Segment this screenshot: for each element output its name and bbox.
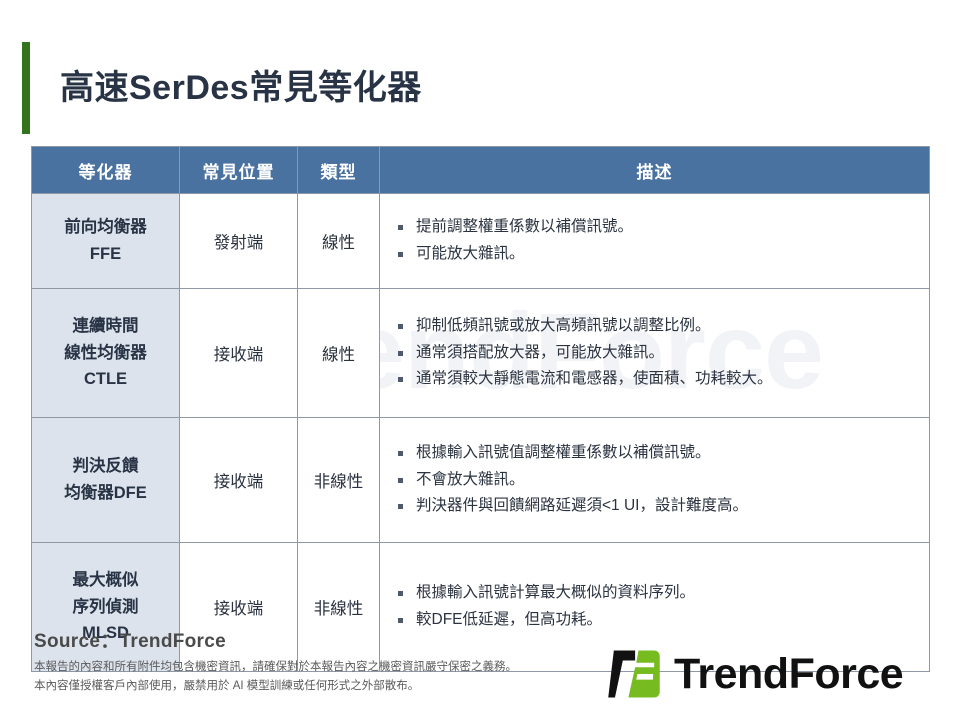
description-item: 判決器件與回饋網路延遲須<1 UI，設計難度高。 (396, 493, 919, 520)
description-list: 抑制低頻訊號或放大高頻訊號以調整比例。 通常須搭配放大器，可能放大雜訊。 通常須… (396, 313, 919, 393)
equalizer-name-line: 判決反饋 (36, 453, 175, 480)
cell-equalizer-name: 連續時間 線性均衡器 CTLE (32, 289, 180, 418)
trendforce-logo-text: TrendForce (674, 653, 903, 696)
cell-type: 線性 (298, 194, 380, 289)
column-header-description: 描述 (380, 147, 930, 194)
equalizer-name-line: 前向均衡器 (36, 214, 175, 241)
equalizer-name-line: 連續時間 (36, 313, 175, 340)
table-row: 連續時間 線性均衡器 CTLE 接收端 線性 抑制低頻訊號或放大高頻訊號以調整比… (32, 289, 930, 418)
equalizer-name-line: 線性均衡器 (36, 340, 175, 367)
description-item: 較DFE低延遲，但高功耗。 (396, 607, 919, 634)
description-item: 抑制低頻訊號或放大高頻訊號以調整比例。 (396, 313, 919, 340)
title-accent-bar (22, 42, 30, 134)
description-item: 通常須較大靜態電流和電感器，使面積、功耗較大。 (396, 366, 919, 393)
description-list: 根據輸入訊號值調整權重係數以補償訊號。 不會放大雜訊。 判決器件與回饋網路延遲須… (396, 440, 919, 520)
table-row: 前向均衡器 FFE 發射端 線性 提前調整權重係數以補償訊號。 可能放大雜訊。 (32, 194, 930, 289)
trendforce-logo: TrendForce (606, 646, 903, 702)
equalizer-table: 等化器 常見位置 類型 描述 前向均衡器 FFE 發射端 線性 提前調整權重係數… (31, 146, 930, 672)
page-title: 高速SerDes常見等化器 (60, 42, 422, 134)
cell-description: 抑制低頻訊號或放大高頻訊號以調整比例。 通常須搭配放大器，可能放大雜訊。 通常須… (380, 289, 930, 418)
cell-equalizer-name: 判決反饋 均衡器DFE (32, 418, 180, 543)
cell-type: 非線性 (298, 543, 380, 672)
description-item: 根據輸入訊號值調整權重係數以補償訊號。 (396, 440, 919, 467)
cell-equalizer-name: 前向均衡器 FFE (32, 194, 180, 289)
description-list: 根據輸入訊號計算最大概似的資料序列。 較DFE低延遲，但高功耗。 (396, 580, 919, 633)
equalizer-name-line: 最大概似 (36, 567, 175, 594)
equalizer-name-line: 序列偵測 (36, 594, 175, 621)
trendforce-logo-icon (606, 646, 662, 702)
cell-position: 接收端 (180, 289, 298, 418)
table-body: 前向均衡器 FFE 發射端 線性 提前調整權重係數以補償訊號。 可能放大雜訊。 … (32, 194, 930, 672)
title-block: 高速SerDes常見等化器 (22, 42, 422, 134)
table-header: 等化器 常見位置 類型 描述 (32, 147, 930, 194)
description-item: 根據輸入訊號計算最大概似的資料序列。 (396, 580, 919, 607)
cell-type: 非線性 (298, 418, 380, 543)
description-item: 提前調整權重係數以補償訊號。 (396, 214, 919, 241)
description-list: 提前調整權重係數以補償訊號。 可能放大雜訊。 (396, 214, 919, 267)
description-item: 通常須搭配放大器，可能放大雜訊。 (396, 340, 919, 367)
cell-description: 根據輸入訊號值調整權重係數以補償訊號。 不會放大雜訊。 判決器件與回饋網路延遲須… (380, 418, 930, 543)
equalizer-name-line: FFE (36, 241, 175, 268)
cell-position: 接收端 (180, 418, 298, 543)
table-row: 判決反饋 均衡器DFE 接收端 非線性 根據輸入訊號值調整權重係數以補償訊號。 … (32, 418, 930, 543)
column-header-type: 類型 (298, 147, 380, 194)
disclaimer-line-1: 本報告的內容和所有附件均包含機密資訊，請確保對於本報告內容之機密資訊嚴守保密之義… (34, 658, 517, 677)
column-header-equalizer: 等化器 (32, 147, 180, 194)
equalizer-table-wrapper: 等化器 常見位置 類型 描述 前向均衡器 FFE 發射端 線性 提前調整權重係數… (31, 146, 929, 672)
disclaimer-block: 本報告的內容和所有附件均包含機密資訊，請確保對於本報告內容之機密資訊嚴守保密之義… (34, 658, 517, 696)
disclaimer-line-2: 本內容僅授權客戶內部使用，嚴禁用於 AI 模型訓練或任何形式之外部散布。 (34, 677, 517, 696)
cell-position: 發射端 (180, 194, 298, 289)
description-item: 不會放大雜訊。 (396, 467, 919, 494)
cell-description: 提前調整權重係數以補償訊號。 可能放大雜訊。 (380, 194, 930, 289)
description-item: 可能放大雜訊。 (396, 241, 919, 268)
source-label: Source：TrendForce (34, 626, 226, 653)
table-header-row: 等化器 常見位置 類型 描述 (32, 147, 930, 194)
cell-type: 線性 (298, 289, 380, 418)
equalizer-name-line: CTLE (36, 366, 175, 393)
column-header-position: 常見位置 (180, 147, 298, 194)
equalizer-name-line: 均衡器DFE (36, 480, 175, 507)
